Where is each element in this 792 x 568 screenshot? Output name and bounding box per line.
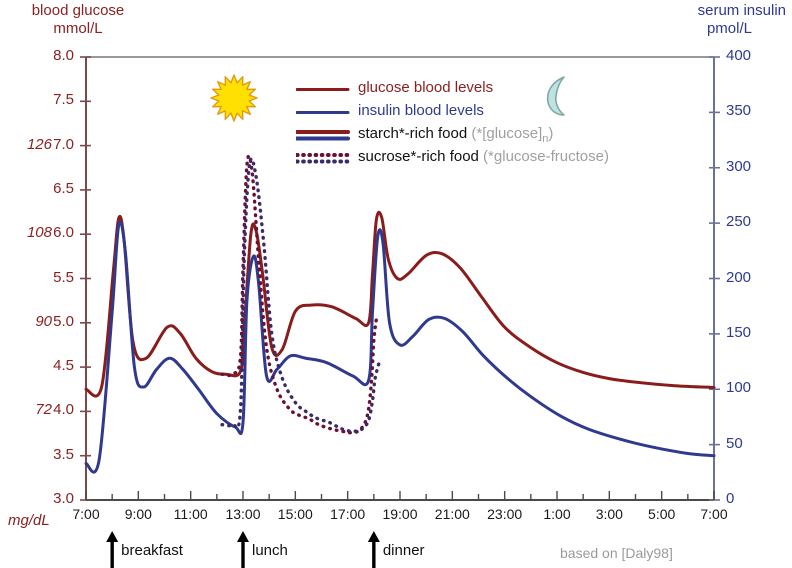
right-axis-tick-label: 0: [726, 490, 772, 507]
x-axis-tick-label: 11:00: [163, 506, 219, 522]
chart-legend: glucose blood levelsinsulin blood levels…: [296, 78, 646, 170]
glucose-dotted-curve: [222, 156, 376, 433]
mgdl-tick-label: 108: [12, 224, 52, 241]
mgdl-tick-label: 72: [12, 401, 52, 418]
right-axis-tick-label: 150: [726, 324, 772, 341]
meal-label-dinner: dinner: [383, 542, 425, 559]
x-axis-tick-label: 3:00: [581, 506, 637, 522]
left-axis-tick-label: 4.5: [28, 357, 74, 374]
left-axis-tick-label: 8.0: [28, 47, 74, 64]
right-axis-title-line1: serum insulin: [698, 2, 786, 19]
sun-icon: [208, 72, 260, 124]
left-axis-title-line2: mmol/L: [8, 20, 148, 38]
meal-arrow-head: [368, 531, 380, 542]
left-axis-title-line1: blood glucose: [32, 2, 125, 19]
right-axis-tick-label: 200: [726, 269, 772, 286]
meal-arrow-head: [106, 531, 118, 542]
legend-swatch-double-dotted-line: [296, 147, 352, 170]
legend-label-2: starch*-rich food (*[glucose]n): [358, 125, 553, 145]
glucose-solid-curve: [86, 212, 714, 396]
legend-label-3: sucrose*-rich food (*glucose-fructose): [358, 148, 609, 165]
right-axis-tick-label: 300: [726, 158, 772, 175]
sun-shape: [211, 75, 257, 121]
legend-swatch-double-solid-line: [296, 124, 352, 147]
mgdl-tick-label: 126: [12, 136, 52, 153]
left-axis-tick-label: 7.5: [28, 91, 74, 108]
legend-label-text: sucrose*-rich food: [358, 148, 479, 165]
left-axis-tick-label: 6.5: [28, 180, 74, 197]
x-axis-tick-label: 9:00: [110, 506, 166, 522]
meal-arrow-head: [237, 531, 249, 542]
x-axis-tick-label: 5:00: [634, 506, 690, 522]
meal-label-breakfast: breakfast: [121, 542, 183, 559]
x-axis-tick-label: 19:00: [372, 506, 428, 522]
left-axis-title: blood glucose mmol/L: [8, 2, 148, 38]
x-axis-tick-label: 13:00: [215, 506, 271, 522]
mgdl-tick-label: 90: [12, 313, 52, 330]
insulin-dotted-curve: [222, 159, 379, 432]
legend-note-close: ): [548, 125, 553, 142]
left-axis-tick-label: 3.0: [28, 490, 74, 507]
mgdl-corner-label: mg/dL: [8, 512, 50, 529]
legend-label-note: (*glucose-fructose): [479, 148, 609, 165]
x-axis-tick-label: 1:00: [529, 506, 585, 522]
meal-label-lunch: lunch: [252, 542, 288, 559]
legend-label-text: starch*-rich food: [358, 125, 467, 142]
right-axis-tick-label: 250: [726, 213, 772, 230]
legend-item-1[interactable]: insulin blood levels: [296, 101, 646, 124]
legend-item-0[interactable]: glucose blood levels: [296, 78, 646, 101]
x-axis-tick-label: 15:00: [267, 506, 323, 522]
left-axis-tick-label: 5.5: [28, 269, 74, 286]
right-axis-tick-label: 50: [726, 435, 772, 452]
right-axis-tick-label: 350: [726, 102, 772, 119]
right-axis-tick-label: 100: [726, 379, 772, 396]
legend-label-note: (*[glucose]n): [467, 125, 553, 142]
x-axis-tick-label: 7:00: [58, 506, 114, 522]
x-axis-tick-label: 7:00: [686, 506, 742, 522]
legend-label-1: insulin blood levels: [358, 102, 484, 119]
legend-item-2[interactable]: starch*-rich food (*[glucose]n): [296, 124, 646, 147]
right-axis-title: serum insulin pmol/L: [616, 2, 786, 38]
x-axis-tick-label: 17:00: [320, 506, 376, 522]
legend-label-text: insulin blood levels: [358, 102, 484, 119]
x-axis-tick-label: 23:00: [477, 506, 533, 522]
legend-swatch-solid-blue-line: [296, 101, 352, 124]
legend-item-3[interactable]: sucrose*-rich food (*glucose-fructose): [296, 147, 646, 170]
right-axis-tick-label: 400: [726, 47, 772, 64]
right-axis-title-line2: pmol/L: [616, 20, 786, 38]
legend-swatch-solid-red-line: [296, 78, 352, 101]
legend-label-text: glucose blood levels: [358, 79, 493, 96]
chart-credit: based on [Daly98]: [560, 545, 673, 561]
left-axis-tick-label: 3.5: [28, 446, 74, 463]
legend-label-0: glucose blood levels: [358, 79, 493, 96]
x-axis-tick-label: 21:00: [424, 506, 480, 522]
insulin-solid-curve: [86, 222, 714, 472]
moon-icon: [532, 72, 578, 120]
